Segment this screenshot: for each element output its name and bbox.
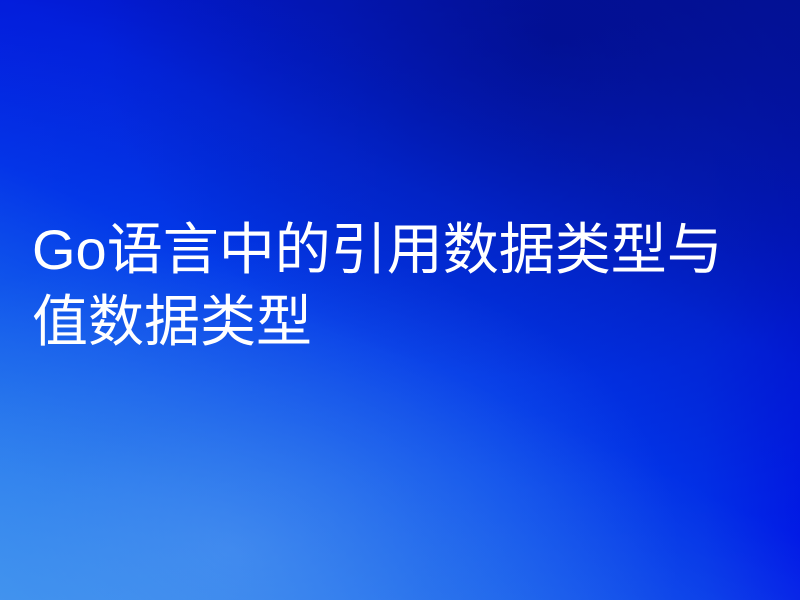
title-card: Go语言中的引用数据类型与 值数据类型 [0, 0, 800, 600]
title-line-2: 值数据类型 [32, 286, 780, 358]
title-line-1: Go语言中的引用数据类型与 [32, 214, 780, 286]
page-title: Go语言中的引用数据类型与 值数据类型 [32, 214, 780, 358]
